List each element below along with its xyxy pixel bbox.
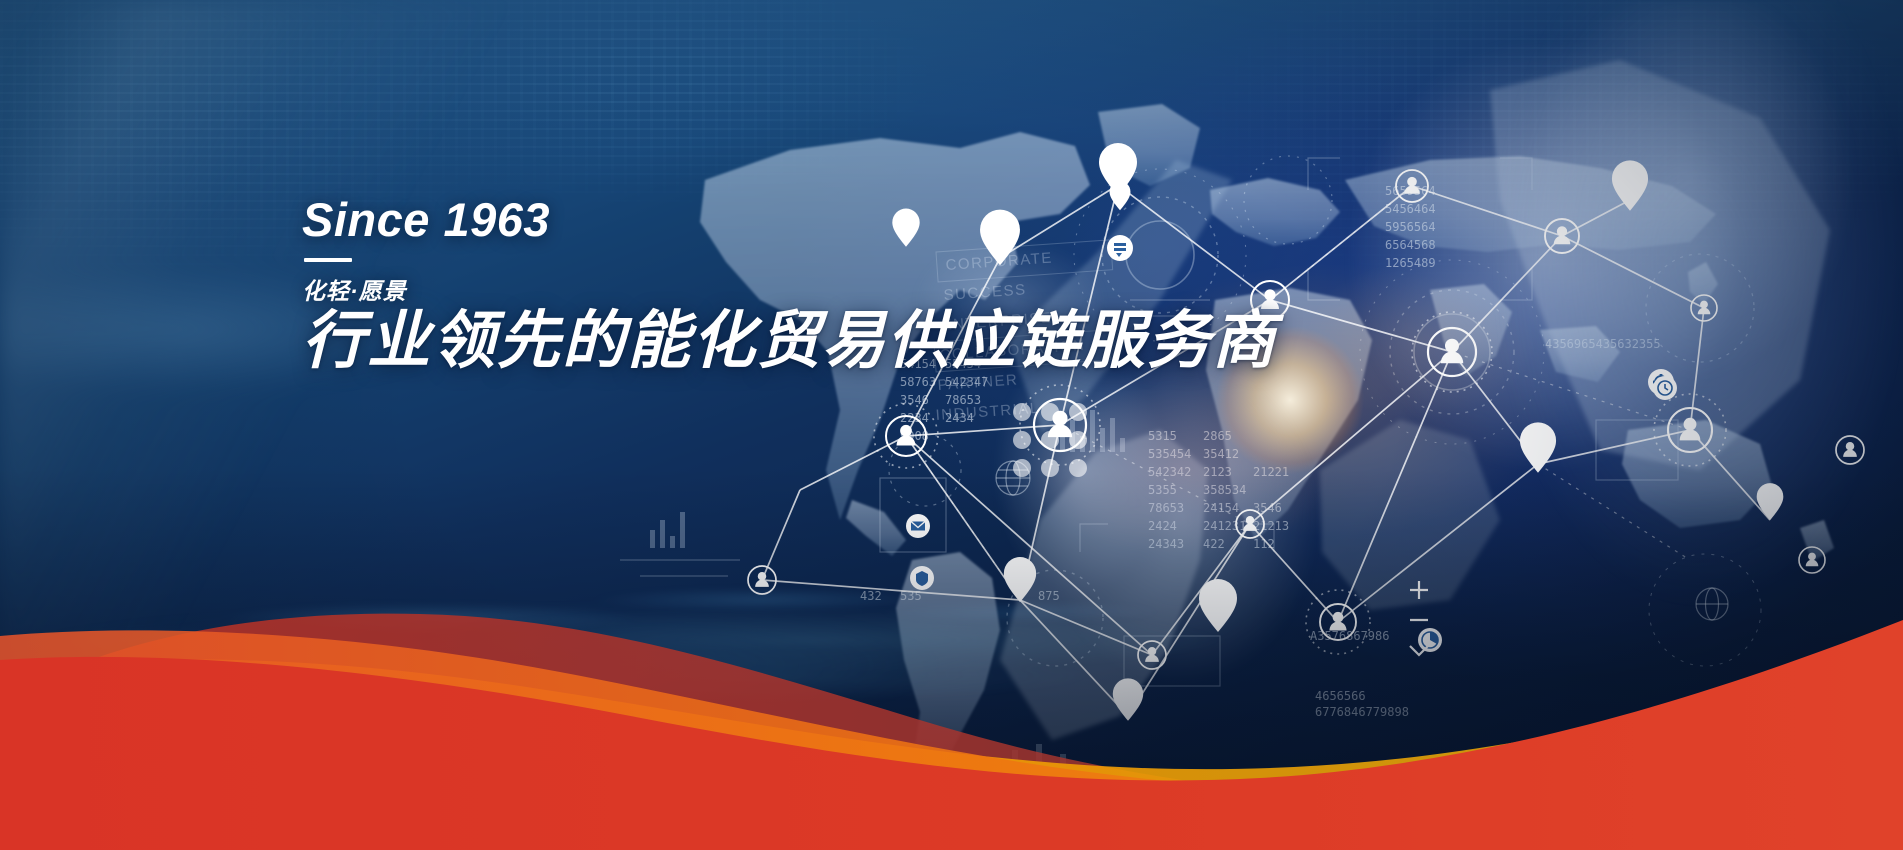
title-divider xyxy=(304,258,352,262)
bottom-wave-graphics xyxy=(0,0,1903,850)
page-title: 行业领先的能化贸易供应链服务商 xyxy=(302,308,1277,374)
subtitle-vision: 化轻·愿景 xyxy=(302,272,1277,306)
hero-banner: CORPORATE SUCCESS ENTERPRISE COLLABORATI… xyxy=(0,0,1903,850)
hero-copy: Since 1963 化轻·愿景 行业领先的能化贸易供应链服务商 xyxy=(302,196,1277,374)
eyebrow-since: Since 1963 xyxy=(302,196,1277,244)
